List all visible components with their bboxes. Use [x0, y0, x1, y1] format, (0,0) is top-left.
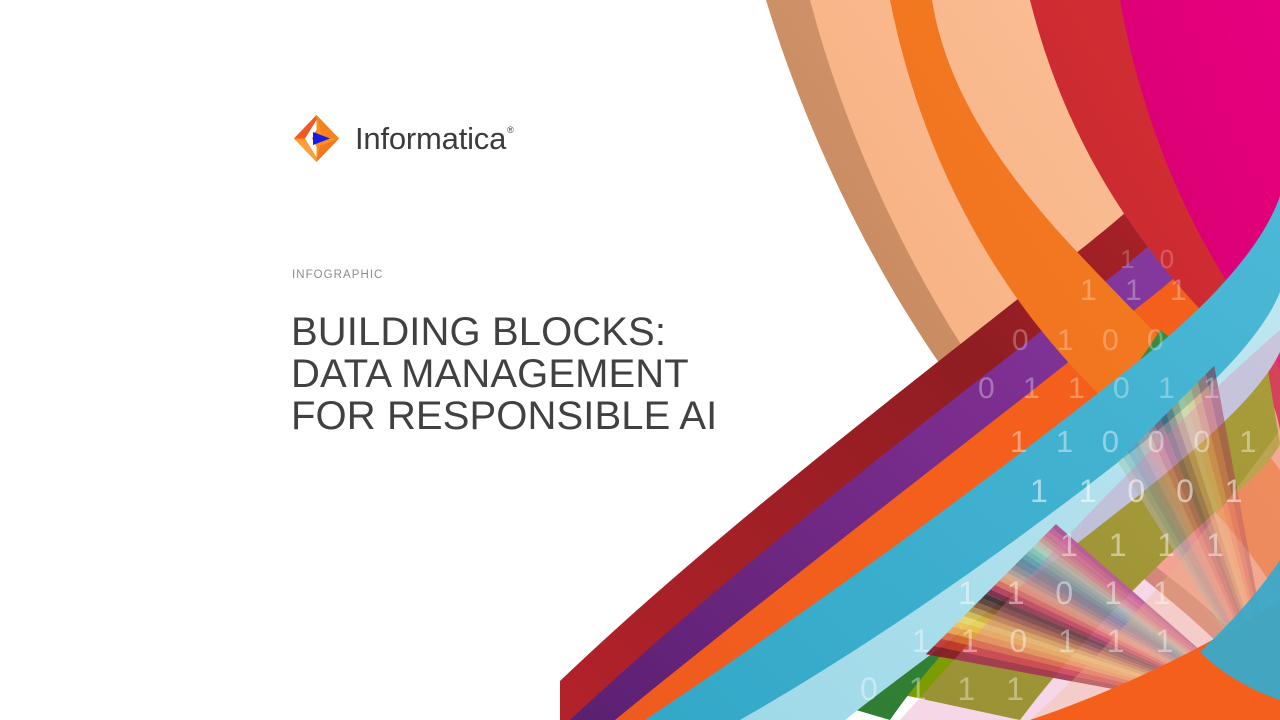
svg-text:0 1 1 0 1 1: 0 1 1 0 1 1 — [978, 372, 1230, 405]
svg-text:1 1 0 1 1: 1 1 0 1 1 — [958, 575, 1182, 611]
binary-overlay: 1 1 1 0 1 0 0 0 1 1 0 1 1 1 1 0 0 0 1 1 … — [860, 244, 1267, 707]
informatica-logo[interactable]: Informatica ® — [292, 114, 514, 163]
informatica-wordmark: Informatica ® — [355, 123, 514, 154]
informatica-diamond-logo-icon — [292, 114, 341, 163]
ribbon-cyan-corner — [1200, 560, 1280, 700]
page-title: BUILDING BLOCKS: DATA MANAGEMENT FOR RES… — [291, 311, 761, 437]
ribbon-olive — [880, 260, 1280, 720]
trademark-symbol: ® — [507, 126, 513, 135]
svg-text:1 1 1 1: 1 1 1 1 — [1060, 527, 1235, 563]
ribbon-lilac — [680, 140, 1280, 720]
svg-text:1 1 0 0 0 1: 1 1 0 0 0 1 — [1010, 424, 1267, 459]
svg-text:0 1 1 1: 0 1 1 1 — [860, 671, 1035, 707]
ribbon-green — [822, 330, 1228, 720]
content-type-label: INFOGRAPHIC — [292, 269, 383, 281]
ribbon-peach — [810, 0, 1280, 720]
svg-text:1 1 0 1 1 1: 1 1 0 1 1 1 — [912, 623, 1184, 659]
ribbon-red-upper — [1030, 0, 1280, 430]
svg-text:1 1 0 0 1: 1 1 0 0 1 — [1030, 473, 1254, 509]
ribbon-tan — [766, 0, 1280, 720]
svg-text:1 0: 1 0 — [1120, 244, 1183, 274]
slide-canvas: 1 1 1 0 1 0 0 0 1 1 0 1 1 1 1 0 0 0 1 1 … — [0, 0, 1280, 720]
ribbon-magenta — [1120, 0, 1280, 372]
brand-name: Informatica — [355, 123, 506, 154]
ribbon-cyan — [645, 196, 1280, 720]
svg-text:0 1 0 0: 0 1 0 0 — [1012, 324, 1174, 357]
veil-warm — [1030, 430, 1280, 720]
ribbon-orange-corner — [1030, 600, 1280, 720]
svg-text:1 1 1: 1 1 1 — [1080, 274, 1197, 307]
ribbon-orange-upper — [890, 0, 1280, 600]
ribbon-cyan-light — [740, 292, 1280, 720]
veil-pink — [900, 330, 1280, 720]
